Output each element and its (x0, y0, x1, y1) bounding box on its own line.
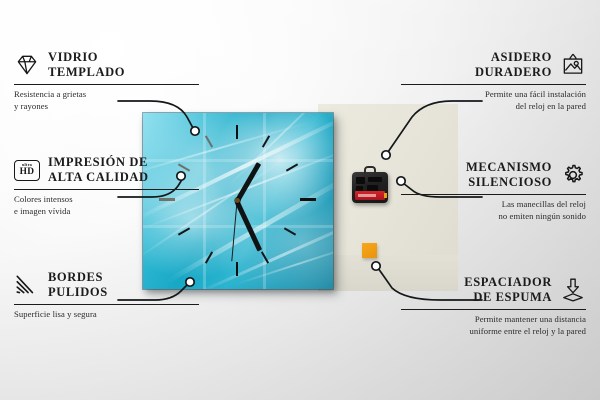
battery-terminal (384, 193, 387, 198)
feature-title-line1: ESPACIADOR (464, 275, 552, 290)
feature-desc-line1: Colores intensos (14, 194, 199, 206)
feature-desc-line2: no emiten ningún sonido (401, 211, 586, 223)
feature-title-line1: IMPRESIÓN DE (48, 155, 149, 170)
feature-divider (401, 84, 586, 86)
feature-title-line1: BORDES (48, 270, 108, 285)
ultra-hd-icon: ultra HD (14, 160, 40, 181)
feature-title-line2: DE ESPUMA (464, 290, 552, 305)
feature-title-line1: ASIDERO (475, 50, 552, 65)
feature-title-line2: TEMPLADO (48, 65, 125, 80)
feature-divider (401, 309, 586, 311)
feature-title-line2: PULIDOS (48, 285, 108, 300)
clock-tick-12 (236, 125, 238, 139)
feature-title-line2: ALTA CALIDAD (48, 170, 149, 185)
feature-title-line1: VIDRIO (48, 50, 125, 65)
feature-desc-line2: uniforme entre el reloj y la pared (401, 326, 586, 338)
movement-hook (364, 166, 376, 174)
diamond-icon (14, 52, 40, 78)
feature-mecanismo-silencioso[interactable]: MECANISMO SILENCIOSO Las manecillas del … (401, 160, 586, 223)
clock-center-cap (235, 198, 240, 203)
feature-title-line1: MECANISMO (466, 160, 552, 175)
feature-desc-line2: del reloj en la pared (401, 101, 586, 113)
feature-espaciador-de-espuma[interactable]: ESPACIADOR DE ESPUMA Permite mantener un… (401, 275, 586, 338)
foam-spacer (362, 243, 377, 258)
press-down-icon (560, 277, 586, 303)
feature-impresion-alta-calidad[interactable]: ultra HD IMPRESIÓN DE ALTA CALIDAD Color… (14, 155, 199, 218)
feature-divider (401, 194, 586, 196)
picture-hanger-icon (560, 52, 586, 78)
feature-title-line2: SILENCIOSO (466, 175, 552, 190)
feature-asidero-duradero[interactable]: ASIDERO DURADERO Permite una fácil insta… (401, 50, 586, 113)
feature-divider (14, 304, 199, 306)
clock-tick-3 (300, 198, 316, 201)
feature-vidrio-templado[interactable]: VIDRIO TEMPLADO Resistencia a grietas y … (14, 50, 199, 113)
feature-desc-line2: y rayones (14, 101, 199, 113)
clock-tick-6 (236, 262, 238, 276)
feature-desc-line1: Superficie lisa y segura (14, 309, 199, 321)
feature-divider (14, 189, 199, 191)
clock-movement (352, 172, 388, 203)
battery (355, 191, 385, 200)
battery-label-strip (358, 194, 376, 197)
feature-desc-line2: e imagen vívida (14, 206, 199, 218)
movement-detail (368, 177, 382, 182)
infographic-canvas: VIDRIO TEMPLADO Resistencia a grietas y … (0, 0, 600, 400)
feature-title-line2: DURADERO (475, 65, 552, 80)
feature-desc-line1: Las manecillas del reloj (401, 199, 586, 211)
feature-desc-line1: Permite una fácil instalación (401, 89, 586, 101)
gear-icon (560, 162, 586, 188)
feature-desc-line1: Permite mantener una distancia (401, 314, 586, 326)
glass-seam (143, 225, 333, 228)
feature-desc-line1: Resistencia a grietas (14, 89, 199, 101)
feature-bordes-pulidos[interactable]: BORDES PULIDOS Superficie lisa y segura (14, 270, 199, 321)
polished-edge-icon (14, 272, 40, 298)
feature-divider (14, 84, 199, 86)
movement-detail (356, 177, 365, 184)
ultra-hd-icon-main-text: HD (20, 168, 35, 177)
